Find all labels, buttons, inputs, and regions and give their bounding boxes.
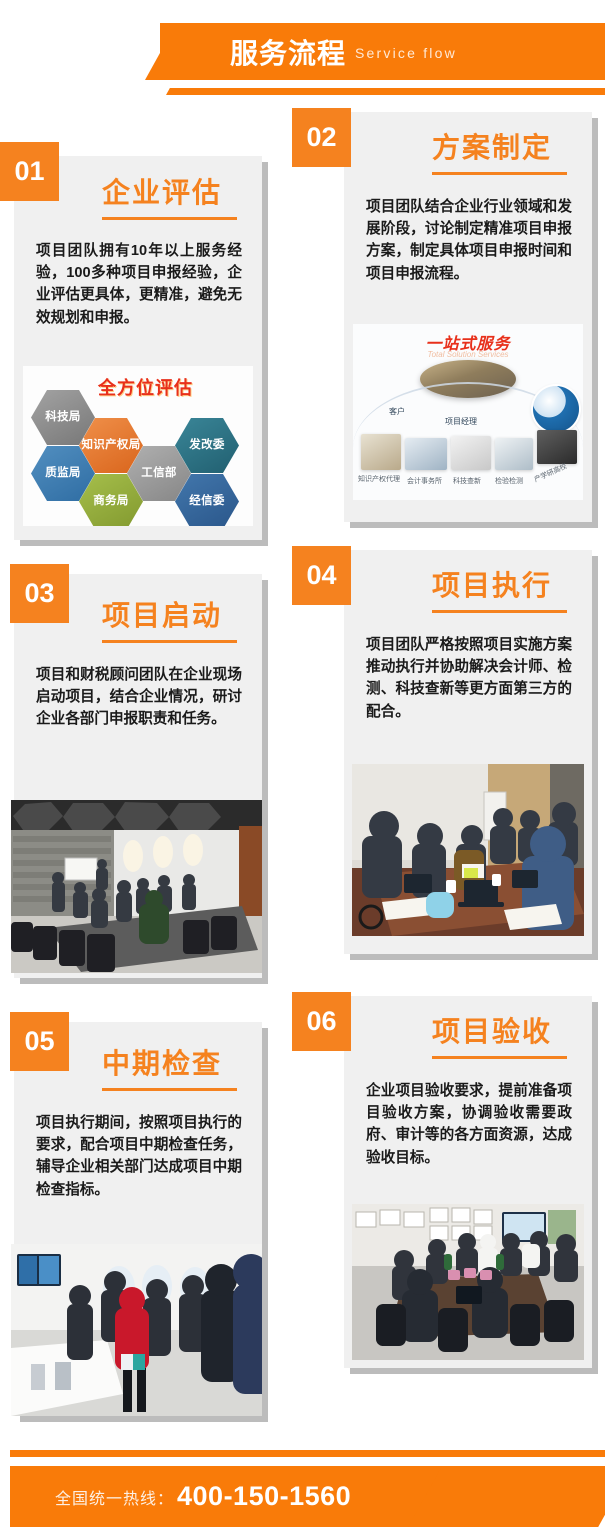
boardroom-audit-photo [352,1204,584,1360]
step-number-badge-06: 06 [292,992,351,1051]
oss-caption: 科技查新 [453,476,481,486]
step-card-03: 03 项目启动 项目和财税顾问团队在企业现场启动项目，结合企业情况，研讨企业各部… [14,574,262,978]
step-body-04: 项目团队严格按照项目实施方案推动执行并协助解决会计师、检测、科技查新等更方面第三… [366,634,572,723]
page-subtitle: Service flow [355,45,457,63]
showroom-visit-photo [11,1244,262,1416]
hotline-label: 全国统一热线： [55,1485,174,1509]
hotline-number[interactable]: 400-150-1560 [177,1483,351,1510]
step-title-03: 项目启动 [102,602,222,630]
step-card-05: 05 中期检查 项目执行期间，按照项目执行的要求，配合项目中期检查任务，辅导企业… [14,1022,262,1416]
oss-subtitle: Total Solution Services [427,350,508,359]
step-number-badge-01: 01 [0,142,59,201]
hexagon-node-label: 商务局 [93,495,128,508]
step-body-06: 企业项目验收要求，提前准备项目验收方案，协调验收需要政府、审计等的各方面资源，达… [366,1080,572,1169]
header-underline-body [178,88,605,95]
step-title-06: 项目验收 [432,1018,552,1046]
oss-node-testing [495,438,533,470]
page-title: 服务流程 [230,40,346,68]
step-number-badge-03: 03 [10,564,69,623]
step-card-01: 01 企业评估 项目团队拥有10年以上服务经验，100多种项目申报经验，企业评估… [14,156,262,540]
step-title-rule-01 [102,217,237,220]
header-text-group: 服务流程 Service flow [230,34,605,74]
step-title-01: 企业评估 [102,179,222,207]
service-flow-poster: 服务流程 Service flow 01 企业评估 项目团队拥有10年以上服务经… [0,0,605,1538]
meeting-laptops-illustration [352,764,584,936]
step-card-02: 02 方案制定 项目团队结合企业行业领域和发展阶段，讨论制定精准项目申报方案，制… [344,112,592,522]
showroom-visit-illustration [11,1244,262,1416]
conference-room-illustration [11,800,262,973]
step-card-06: 06 项目验收 企业项目验收要求，提前准备项目验收方案，协调验收需要政府、审计等… [344,996,592,1368]
hexagon-node-label: 知识产权局 [82,439,141,452]
footer-hotline-group: 全国统一热线： 400-150-1560 [55,1466,351,1527]
oss-client-label: 客户 [389,406,405,417]
meeting-laptops-photo [352,764,584,936]
hexagon-node-label: 经信委 [189,495,224,508]
step-number-badge-05: 05 [10,1012,69,1071]
step-body-05: 项目执行期间，按照项目执行的要求，配合项目中期检查任务，辅导企业相关部门达成项目… [36,1112,242,1201]
oss-caption: 会计事务所 [407,476,442,486]
step-title-05: 中期检查 [102,1050,222,1078]
step-body-02: 项目团队结合企业行业领域和发展阶段，讨论制定精准项目申报方案，制定具体项目申报时… [366,196,572,285]
oss-caption: 产学研高校 [532,461,568,484]
step-title-rule-05 [102,1088,237,1091]
footer-rule-body [10,1450,455,1457]
hexagon-node-label: 工信部 [141,467,176,480]
oss-node-accounting [405,438,447,470]
step-title-04: 项目执行 [432,572,552,600]
footer-banner-skew [408,1466,605,1527]
conference-room-photo [11,800,262,973]
boardroom-audit-illustration [352,1204,584,1360]
hexagon-assessment-diagram: 全方位评估 科技局 知识产权局 质监局 工信部 商务局 发改委 经信委 [23,366,253,526]
oss-node-ip [361,434,401,470]
hexagon-node-label: 质监局 [45,467,80,480]
hexagon-diagram-title: 全方位评估 [98,374,193,400]
oss-center-label: 项目经理 [445,416,477,427]
page-footer: 全国统一热线： 400-150-1560 [0,1410,605,1538]
step-body-01: 项目团队拥有10年以上服务经验，100多种项目申报经验，企业评估更具体，更精准，… [36,240,242,329]
oss-certification-seal [533,386,579,432]
step-number-badge-04: 04 [292,546,351,605]
oss-caption: 检验检测 [495,476,523,486]
oss-node-university [537,430,577,464]
one-stop-service-diagram: 一站式服务 Total Solution Services 客户 项目经理 知识… [353,324,583,500]
oss-caption: 知识产权代理 [358,474,400,484]
step-title-rule-03 [102,640,237,643]
step-body-03: 项目和财税顾问团队在企业现场启动项目，结合企业情况，研讨企业各部门申报职责和任务… [36,664,242,731]
oss-node-search [451,436,491,470]
step-title-rule-06 [432,1056,567,1059]
step-card-04: 04 项目执行 项目团队严格按照项目实施方案推动执行并协助解决会计师、检测、科技… [344,550,592,954]
step-title-02: 方案制定 [432,134,552,162]
page-header: 服务流程 Service flow [0,0,605,112]
footer-rule-skew [428,1450,605,1457]
step-number-badge-02: 02 [292,108,351,167]
step-title-rule-02 [432,172,567,175]
hexagon-node-label: 发改委 [189,439,224,452]
hexagon-node-label: 科技局 [45,411,80,424]
step-title-rule-04 [432,610,567,613]
